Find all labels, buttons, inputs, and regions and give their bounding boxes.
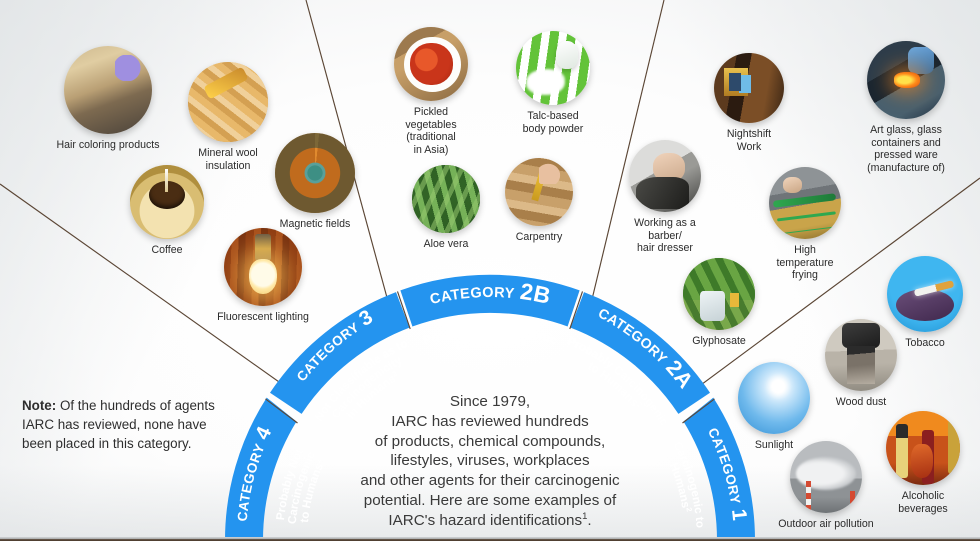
smokestacks-icon — [790, 441, 862, 513]
center-line-5: and other agents for their carcinogenic — [330, 471, 650, 491]
center-line-4: lifestyles, viruses, workplaces — [330, 451, 650, 471]
item-aloe-vera[interactable]: Aloe vera — [411, 165, 481, 251]
item-nightshift-work[interactable]: Nightshift Work — [714, 53, 784, 153]
item-mineral-wool-insulation[interactable]: Mineral wool insulation — [186, 62, 270, 172]
kimchi-bowl-icon — [394, 27, 468, 101]
center-line-3: of products, chemical compounds, — [330, 432, 650, 452]
sprayer-bottle-icon — [683, 258, 755, 330]
item-caption: Wood dust — [811, 396, 911, 409]
chainsaw-icon — [825, 319, 897, 391]
item-caption: Outdoor air pollution — [761, 518, 891, 531]
sun-sky-icon — [738, 362, 810, 434]
item-glyphosate[interactable]: Glyphosate — [683, 258, 755, 348]
item-caption: Alcoholic beverages — [875, 490, 971, 515]
item-talc-based-body-powder[interactable]: Talc-based body powder — [514, 31, 592, 135]
item-sunlight[interactable]: Sunlight — [738, 362, 810, 452]
note-label: Note: — [22, 398, 56, 413]
center-line-6: potential. Here are some examples of — [330, 491, 650, 511]
item-caption: Pickled vegetables (traditional in Asia) — [383, 106, 479, 156]
center-line-1: Since 1979, — [330, 392, 650, 412]
deep-fryer-icon — [769, 167, 841, 239]
item-caption: Aloe vera — [398, 238, 494, 251]
magnetic-coil-icon — [275, 133, 355, 213]
item-magnetic-fields[interactable]: Magnetic fields — [273, 133, 357, 231]
mineral-wool-icon — [188, 62, 268, 142]
center-description: Since 1979, IARC has reviewed hundreds o… — [330, 392, 650, 530]
item-art-glass[interactable]: Art glass, glass containers and pressed … — [867, 41, 945, 174]
center-line-2: IARC has reviewed hundreds — [330, 412, 650, 432]
item-hair-coloring-products[interactable]: Hair coloring products — [58, 46, 158, 152]
cat2b-sub-line-2: to Humans — [454, 335, 521, 352]
item-caption: Carpentry — [491, 231, 587, 244]
powder-shaker-icon — [516, 31, 590, 105]
item-caption: Glyphosate — [671, 335, 767, 348]
glassblowing-icon — [867, 41, 945, 119]
item-carpentry[interactable]: Carpentry — [504, 158, 574, 244]
item-caption: Hair coloring products — [33, 139, 183, 152]
item-caption: Fluorescent lighting — [198, 311, 328, 324]
item-working-as-a-barber[interactable]: Working as a barber/ hair dresser — [629, 140, 701, 255]
aloe-plant-icon — [412, 165, 480, 233]
svg-text:to Humans2: to Humans2 — [454, 335, 526, 352]
item-pickled-vegetables[interactable]: Pickled vegetables (traditional in Asia) — [392, 27, 470, 156]
item-fluorescent-lighting[interactable]: Fluorescent lighting — [222, 228, 304, 324]
coffee-cup-icon — [130, 165, 204, 239]
carpentry-tools-icon — [505, 158, 573, 226]
bottom-rule — [0, 537, 980, 541]
item-caption: High temperature frying — [757, 244, 853, 282]
center-period: . — [587, 512, 591, 529]
item-caption: Nightshift Work — [701, 128, 797, 153]
item-caption: Art glass, glass containers and pressed … — [849, 124, 963, 174]
center-line-7: IARC's hazard identifications1. — [330, 511, 650, 531]
infographic-canvas: CATEGORY 4 Probably Not Carcinogenic to … — [0, 0, 980, 541]
light-bulb-icon — [224, 228, 302, 306]
item-outdoor-air-pollution[interactable]: Outdoor air pollution — [790, 441, 862, 531]
night-window-icon — [714, 53, 784, 123]
item-coffee[interactable]: Coffee — [128, 165, 206, 257]
hair-coloring-icon — [64, 46, 152, 134]
item-caption: Talc-based body powder — [503, 110, 603, 135]
item-tobacco[interactable]: Tobacco — [887, 256, 963, 350]
item-wood-dust[interactable]: Wood dust — [825, 319, 897, 409]
item-high-temperature-frying[interactable]: High temperature frying — [769, 167, 841, 282]
barber-icon — [629, 140, 701, 212]
item-alcoholic-beverages[interactable]: Alcoholic beverages — [886, 411, 960, 515]
cat1-number: 1 — [727, 508, 751, 522]
note-box: Note: Of the hundreds of agents IARC has… — [22, 396, 237, 453]
center-line-7-text: IARC's hazard identifications — [388, 512, 582, 529]
item-caption: Working as a barber/ hair dresser — [615, 217, 715, 255]
item-caption: Coffee — [117, 244, 217, 257]
cigarette-ashtray-icon — [887, 256, 963, 332]
bottles-icon — [886, 411, 960, 485]
